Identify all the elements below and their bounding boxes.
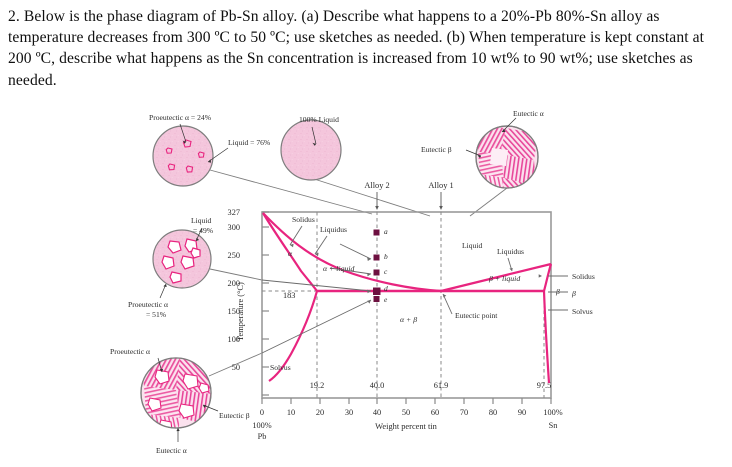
micro-proeut-eut-label-eut-alpha: Eutectic α xyxy=(156,446,187,455)
micro-proeutectic-24-label-liquid: Liquid = 76% xyxy=(228,138,271,147)
y-tick-250: 250 xyxy=(228,251,240,260)
x-guide-label-19-2: 19.2 xyxy=(310,381,325,390)
alloy-point-d-marker xyxy=(373,288,381,296)
y-tick-300: 300 xyxy=(228,223,240,232)
x-axis-left-end-pct: 100% xyxy=(252,421,271,430)
curve-label-liquidus-left: Liquidus xyxy=(320,225,347,234)
solvus-beta-curve xyxy=(544,291,549,383)
alloy-1-label: Alloy 1 xyxy=(428,181,453,190)
x-tick-70: 70 xyxy=(460,408,468,417)
alloy-2-label: Alloy 2 xyxy=(364,181,389,190)
x-axis-right-end-sn: Sn xyxy=(549,421,559,430)
x-tick-0: 0 xyxy=(260,408,264,417)
region-label-alpha-beta: α + β xyxy=(400,315,417,324)
micro-proeutectic-51-label-alpha-pct: = 51% xyxy=(146,310,167,319)
alloy-point-d-label: d xyxy=(384,284,388,293)
y-tick-327: 327 xyxy=(228,208,240,217)
x-tick-50: 50 xyxy=(402,408,410,417)
x-tick-100: 100% xyxy=(543,408,562,417)
eutectic-point-label: Eutectic point xyxy=(455,311,498,320)
curve-label-solidus-left: Solidus xyxy=(292,215,315,224)
micro-eutectic-label-alpha: Eutectic α xyxy=(513,109,544,118)
x-tick-60: 60 xyxy=(431,408,439,417)
phase-boundaries xyxy=(263,213,551,383)
micro-eutectic: Eutectic α Eutectic β xyxy=(421,109,544,216)
alloy-markers: Alloy 2 Alloy 1 xyxy=(364,181,453,210)
solidus-beta-curve xyxy=(544,264,551,291)
y-tick-200: 200 xyxy=(228,279,240,288)
alloy-point-c-label: c xyxy=(384,267,388,276)
micro-proeutectic-51-label-liquid-pct: = 49% xyxy=(193,226,214,235)
micro-proeutectic-51-label-liquid: Liquid xyxy=(191,216,211,225)
region-label-beta-liquid: β + liquid xyxy=(488,274,520,283)
plot-frame xyxy=(262,212,551,398)
micro-proeut-eut-label-alpha: Proeutectic α xyxy=(110,347,150,356)
y-tick-150: 150 xyxy=(228,307,240,316)
y-tick-100: 100 xyxy=(228,335,240,344)
y-tick-50: 50 xyxy=(232,363,240,372)
curve-label-solidus-right: Solidus xyxy=(572,272,595,281)
micro-liquid-100-label: 100% Liquid xyxy=(299,115,339,124)
phase-diagram-svg: 100% Liquid Proeutectic α = 24% Liquid =… xyxy=(0,108,732,467)
micro-proeutectic-24: Proeutectic α = 24% Liquid = 76% xyxy=(149,113,372,214)
x-tick-30: 30 xyxy=(345,408,353,417)
region-label-beta-right: β xyxy=(571,289,576,298)
alloy-2-points: a b c d e xyxy=(373,227,388,304)
question-text: 2. Below is the phase diagram of Pb-Sn a… xyxy=(8,6,724,91)
alloy-point-e-marker xyxy=(374,296,380,302)
phase-diagram-figure: 100% Liquid Proeutectic α = 24% Liquid =… xyxy=(0,108,732,467)
x-axis-title: Weight percent tin xyxy=(375,422,437,431)
x-guide-label-40-0: 40.0 xyxy=(370,381,385,390)
x-axis: 0 10 20 30 40 50 60 70 80 90 100% 100% P… xyxy=(252,398,562,441)
x-tick-10: 10 xyxy=(287,408,295,417)
micro-liquid-100: 100% Liquid xyxy=(281,115,430,216)
bubble-leader-arrows xyxy=(367,257,371,303)
curve-label-liquidus-right: Liquidus xyxy=(497,247,524,256)
alloy-point-c-marker xyxy=(374,270,380,276)
alloy-point-a-marker xyxy=(374,230,380,236)
alloy-point-b-marker xyxy=(374,255,380,261)
micro-proeutectic-51-label-alpha: Proeutectic α xyxy=(128,300,168,309)
micro-proeut-eut-label-beta: Eutectic β xyxy=(219,411,250,420)
x-tick-80: 80 xyxy=(489,408,497,417)
region-label-beta: β xyxy=(555,287,560,296)
composition-guides xyxy=(262,205,544,398)
x-axis-left-end-pb: Pb xyxy=(258,432,267,441)
region-label-alpha-liquid: α + liquid xyxy=(323,264,355,273)
region-label-liquid: Liquid xyxy=(462,241,482,250)
x-tick-20: 20 xyxy=(316,408,324,417)
alloy-point-a-label: a xyxy=(384,227,388,236)
alloy-point-b-label: b xyxy=(384,252,388,261)
x-tick-90: 90 xyxy=(518,408,526,417)
micro-eutectic-label-beta: Eutectic β xyxy=(421,145,452,154)
alloy-point-e-label: e xyxy=(384,295,388,304)
x-tick-40: 40 xyxy=(373,408,381,417)
label-183: 183 xyxy=(283,291,295,300)
micro-proeutectic-24-label-alpha: Proeutectic α = 24% xyxy=(149,113,212,122)
curve-label-solvus-left: Solvus xyxy=(270,363,291,372)
x-guide-label-61-9: 61.9 xyxy=(434,381,449,390)
curve-label-solvus-right: Solvus xyxy=(572,307,593,316)
